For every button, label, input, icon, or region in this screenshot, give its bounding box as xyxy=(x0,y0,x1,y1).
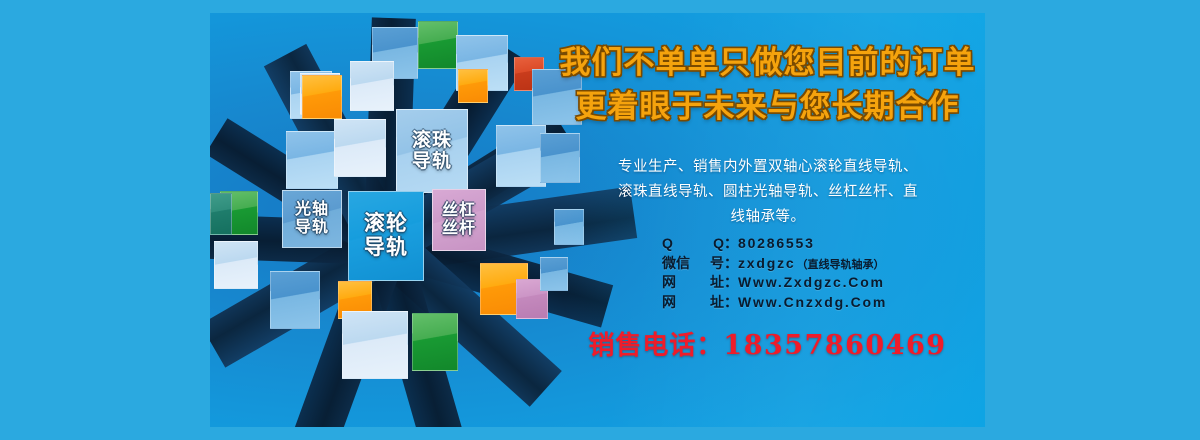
contact-value-wechat: zxdgzc xyxy=(738,255,795,271)
cube-tile xyxy=(350,61,394,111)
sales-phone-number: 18357860469 xyxy=(723,330,946,361)
description-line-1: 专业生产、销售内外置双轴心滚轮直线导轨、 xyxy=(564,155,972,180)
cube-tile xyxy=(270,271,320,329)
contact-label-website-1: 网 址 xyxy=(662,272,724,292)
cube-tile xyxy=(210,193,232,235)
product-label-line1: 滚轮 xyxy=(364,212,408,236)
contact-value-website-2: Www.Cnzxdg.Com xyxy=(738,294,887,310)
headline-line-2: 更着眼于未来与您长期合作 xyxy=(550,85,985,129)
product-label-line2: 导轨 xyxy=(295,219,329,237)
cube-tile xyxy=(496,125,546,187)
contact-row-wechat[interactable]: 微信 号 ： zxdgzc （直线导轨轴承） xyxy=(662,253,985,273)
contact-row-qq[interactable]: Q Q ： 80286553 xyxy=(662,233,985,253)
product-label-gunlun-daogui[interactable]: 滚轮 导轨 xyxy=(348,191,424,281)
page-root: 滚珠 导轨 光轴 导轨 滚轮 导轨 丝杠 丝杆 xyxy=(0,0,1200,440)
product-label-line2: 导轨 xyxy=(412,151,452,172)
cube-tile xyxy=(418,21,458,69)
contact-value-website-1: Www.Zxdgzc.Com xyxy=(738,274,885,290)
contact-info: Q Q ： 80286553 微信 号 ： zxdgzc （直线导轨轴承） xyxy=(662,233,985,311)
cube-tile xyxy=(286,131,338,189)
cube-tile xyxy=(334,119,386,177)
cube-tile xyxy=(302,75,342,119)
product-label-line2: 丝杆 xyxy=(442,220,476,238)
cube-explosion-graphic: 滚珠 导轨 光轴 导轨 滚轮 导轨 丝杠 丝杆 xyxy=(210,13,600,427)
contact-label-wechat: 微信 号 xyxy=(662,253,724,273)
description-line-3: 线轴承等。 xyxy=(564,205,972,230)
description-line-2: 滚珠直线导轨、圆柱光轴导轨、丝杠丝杆、直 xyxy=(564,180,972,205)
product-label-guangzhou-daogui[interactable]: 光轴 导轨 xyxy=(282,190,342,248)
product-label-line1: 丝杠 xyxy=(442,202,476,220)
cube-tile xyxy=(458,69,488,103)
contact-row-website-2[interactable]: 网 址 ： Www.Cnzxdg.Com xyxy=(662,292,985,312)
cube-tile xyxy=(412,313,458,371)
product-label-line2: 导轨 xyxy=(364,236,408,260)
contact-label-qq: Q Q xyxy=(662,235,724,251)
contact-row-website-1[interactable]: 网 址 ： Www.Zxdgzc.Com xyxy=(662,272,985,292)
sales-phone[interactable]: 销售电话：18357860469 xyxy=(550,325,985,362)
contact-separator: ： xyxy=(724,253,738,273)
banner-content: 我们不单单只做您目前的订单 更着眼于未来与您长期合作 专业生产、销售内外置双轴心… xyxy=(550,13,985,427)
contact-note-wechat: （直线导轨轴承） xyxy=(796,256,884,272)
contact-separator: ： xyxy=(724,272,738,292)
contact-separator: ： xyxy=(724,233,738,253)
product-label-gunzhu-daogui[interactable]: 滚珠 导轨 xyxy=(396,109,468,193)
contact-separator: ： xyxy=(724,292,738,312)
contact-value-qq: 80286553 xyxy=(738,235,815,251)
headline: 我们不单单只做您目前的订单 更着眼于未来与您长期合作 xyxy=(550,41,985,129)
cube-tile xyxy=(214,241,258,289)
promo-banner: 滚珠 导轨 光轴 导轨 滚轮 导轨 丝杠 丝杆 xyxy=(210,13,985,427)
product-label-line1: 光轴 xyxy=(295,201,329,219)
product-label-sigang-sigan[interactable]: 丝杠 丝杆 xyxy=(432,189,486,251)
cube-tile xyxy=(342,311,408,379)
description: 专业生产、销售内外置双轴心滚轮直线导轨、 滚珠直线导轨、圆柱光轴导轨、丝杠丝杆、… xyxy=(564,155,972,230)
product-label-line1: 滚珠 xyxy=(412,130,452,151)
sales-phone-label: 销售电话： xyxy=(588,330,723,360)
contact-label-website-2: 网 址 xyxy=(662,292,724,312)
headline-line-1: 我们不单单只做您目前的订单 xyxy=(550,41,985,85)
